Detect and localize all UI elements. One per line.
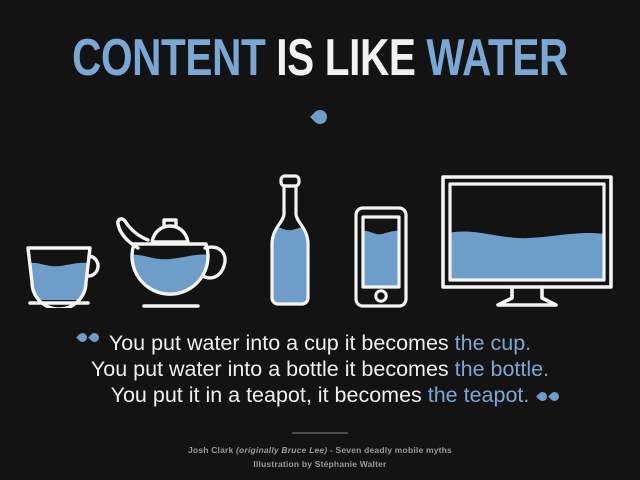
attribution-source: - Seven deadly mobile myths bbox=[327, 445, 452, 455]
quote-drop-icon bbox=[548, 390, 561, 403]
quote-line-1-highlight: the cup. bbox=[455, 331, 532, 355]
quote-line-3-text: You put it in a teapot, it becomes bbox=[111, 383, 428, 407]
quote-drop-icon bbox=[536, 390, 549, 403]
cup-icon bbox=[18, 238, 104, 308]
water-drop-icon bbox=[310, 107, 330, 127]
title-word-water: WATER bbox=[426, 29, 567, 87]
water-drop-accent bbox=[0, 110, 640, 129]
bottle-icon bbox=[262, 170, 318, 310]
phone-icon bbox=[352, 204, 410, 310]
quote-line-1-text: You put water into a cup it becomes bbox=[109, 331, 455, 355]
quote-line-2-highlight: the bottle. bbox=[455, 357, 549, 381]
attribution-divider bbox=[292, 432, 348, 434]
page-title: CONTENT IS LIKE WATER bbox=[70, 32, 569, 84]
attribution-author-note: (originally Bruce Lee) bbox=[236, 445, 327, 455]
quote-line-3-highlight: the teapot. bbox=[428, 383, 530, 407]
quote-line-1: You put water into a cup it becomes the … bbox=[0, 330, 640, 356]
attribution-author: Josh Clark bbox=[188, 445, 236, 455]
slide-canvas: CONTENT IS LIKE WATER bbox=[0, 0, 640, 480]
title-word-content: CONTENT bbox=[72, 29, 265, 87]
quote-line-2: You put water into a bottle it becomes t… bbox=[0, 356, 640, 382]
quote-mark-close bbox=[538, 392, 562, 401]
title-word-is-like: IS LIKE bbox=[276, 29, 415, 87]
monitor-icon bbox=[438, 172, 616, 310]
teapot-icon bbox=[108, 212, 232, 310]
vessel-illustration-row bbox=[0, 160, 640, 310]
attribution-illustration-line: Illustration by Stéphanie Walter bbox=[0, 459, 640, 469]
attribution-source-line: Josh Clark (originally Bruce Lee) - Seve… bbox=[0, 445, 640, 455]
quote-line-2-text: You put water into a bottle it becomes bbox=[91, 357, 455, 381]
